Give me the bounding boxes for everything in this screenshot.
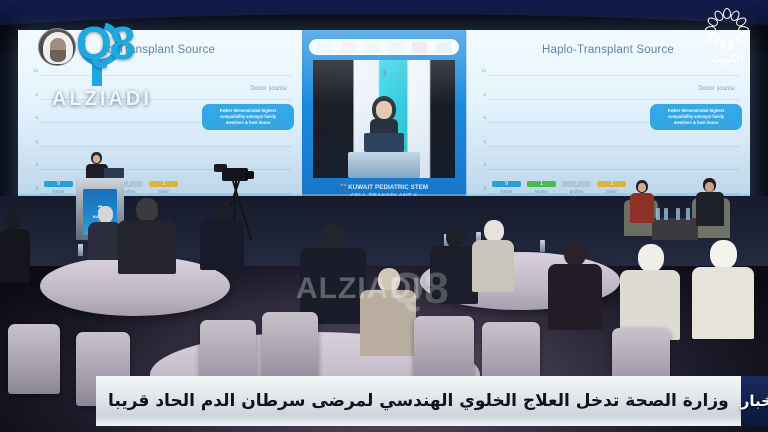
y-tick: 6 xyxy=(26,115,38,120)
channel-logo: الكويت xyxy=(698,8,756,70)
y-tick: 2 xyxy=(474,162,486,167)
callout-line-3: members & best donor xyxy=(655,120,737,126)
emir-portrait xyxy=(38,28,76,66)
audience-body xyxy=(472,240,514,292)
sponsor-logo-icon xyxy=(365,42,380,53)
podium-laptop xyxy=(104,168,124,178)
q8-logo-text: Q8 xyxy=(76,16,133,70)
live-feed-image: 3 xyxy=(313,60,455,178)
audience-head xyxy=(322,224,346,250)
sponsor-logo-icon xyxy=(341,42,356,53)
audience-body xyxy=(360,290,416,356)
sponsor-logo-icon xyxy=(436,42,451,53)
audience-body xyxy=(548,264,602,330)
event-title-ordinal-suffix: rd xyxy=(342,182,346,187)
audience-head xyxy=(214,202,232,222)
ticker-tag-label: الأخبار xyxy=(741,392,768,410)
banquet-chair xyxy=(8,324,60,394)
audience-member xyxy=(620,244,680,336)
feed-slide-number: 3 xyxy=(382,68,387,78)
audience-body xyxy=(118,220,176,274)
audience-body xyxy=(692,267,754,339)
speaker-face xyxy=(93,155,100,163)
kuwait-tv-rosette-icon xyxy=(705,8,749,52)
audience-head xyxy=(98,206,113,223)
audience-head xyxy=(5,212,21,230)
bar-value: 1 xyxy=(527,181,556,187)
audience-member xyxy=(300,224,366,320)
ticker-headline: وزارة الصحة تدخل العلاج الخلوي الهندسي ل… xyxy=(108,391,729,411)
chart-callout-right: Father demonstrated highest compatibilit… xyxy=(650,104,742,130)
callout-line-3: members & best donor xyxy=(207,120,289,126)
audience-body xyxy=(200,220,244,270)
audience-body xyxy=(0,229,30,283)
audience-head xyxy=(484,220,504,242)
chart-callout-left: Father demonstrated highest compatibilit… xyxy=(202,104,294,130)
bar-value: 9 xyxy=(492,181,521,187)
channel-bug: Q8 ALZIADI xyxy=(30,14,190,106)
broadcast-frame: lo-Transplant Source 10 8 6 4 2 0 xyxy=(0,0,768,432)
y-tick: 10 xyxy=(474,68,486,73)
podium-shape xyxy=(348,152,420,178)
audience-member xyxy=(692,240,754,336)
audience-member xyxy=(88,206,122,258)
audience-body xyxy=(88,222,122,260)
bar-item: 1 Mother xyxy=(527,181,556,194)
alziadi-watermark: ALZIADI xyxy=(52,88,152,111)
ticker-headline-bar: وزارة الصحة تدخل العلاج الخلوي الهندسي ل… xyxy=(96,376,741,426)
sponsor-logo-icon xyxy=(412,42,427,53)
audience-member xyxy=(200,202,244,268)
y-tick: 0 xyxy=(474,186,486,191)
bar-item: 9 Father xyxy=(44,181,73,194)
y-tick: 2 xyxy=(26,162,38,167)
audience-head xyxy=(710,240,737,269)
sponsor-logo-bar xyxy=(309,39,459,55)
audience-body xyxy=(430,246,478,304)
camera-lens-icon xyxy=(245,171,254,179)
audience-member xyxy=(472,220,514,290)
bar-value: 3 xyxy=(562,181,591,187)
bar-value: 9 xyxy=(44,181,73,187)
bar-value: 2 xyxy=(149,181,178,187)
audience-head xyxy=(564,242,586,266)
audience-member xyxy=(430,226,478,302)
audience-head xyxy=(378,268,400,292)
donor-source-label: Donor source: xyxy=(698,86,736,92)
audience-member xyxy=(0,212,30,282)
donor-source-label: Donor source: xyxy=(250,86,288,92)
audience-head xyxy=(446,226,466,248)
y-tick: 8 xyxy=(474,92,486,97)
audience-member xyxy=(548,242,602,328)
panelist-face xyxy=(638,183,646,192)
sponsor-logo-icon xyxy=(388,42,403,53)
ticker-category-tag: الأخبار xyxy=(741,376,768,426)
bar-item: 2 Sister xyxy=(149,181,178,194)
audience-member xyxy=(360,268,416,354)
sponsor-logo-icon xyxy=(317,42,332,53)
bar-item: 3 Brother xyxy=(562,181,591,194)
y-tick: 4 xyxy=(474,139,486,144)
news-ticker: وزارة الصحة تدخل العلاج الخلوي الهندسي ل… xyxy=(96,376,760,426)
audience-head xyxy=(638,244,664,272)
bar-item: 9 Father xyxy=(492,181,521,194)
y-tick: 6 xyxy=(474,115,486,120)
panelist-face xyxy=(705,182,714,192)
speaker-face xyxy=(376,101,392,119)
laptop-icon xyxy=(364,133,404,152)
audience-member xyxy=(118,198,176,272)
center-live-panel: 3 3rd KUWAIT PEDIATRIC STEM CELL TRANSPL… xyxy=(302,30,466,220)
y-tick: 0 xyxy=(26,186,38,191)
event-title-line-1: KUWAIT PEDIATRIC STEM xyxy=(348,184,428,191)
y-tick: 4 xyxy=(26,139,38,144)
portrait-beard xyxy=(50,50,66,62)
audience-head xyxy=(136,198,158,222)
channel-name: الكويت xyxy=(698,52,756,65)
